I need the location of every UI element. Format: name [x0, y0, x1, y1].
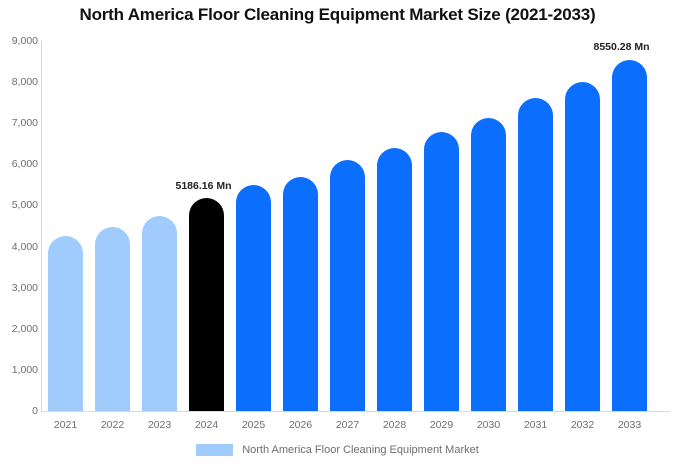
bar-value-label-2024: 5186.16 Mn — [176, 180, 232, 192]
chart-legend: North America Floor Cleaning Equipment M… — [0, 444, 675, 456]
y-axis-tick-label: 8,000 — [2, 76, 38, 88]
y-axis-tick-label: 4,000 — [2, 241, 38, 253]
x-axis: 2021202220232024202520262027202820292030… — [41, 419, 670, 437]
bar-value-label-2033: 8550.28 Mn — [594, 41, 650, 53]
legend-swatch-icon — [196, 444, 233, 456]
y-axis-tick-label: 6,000 — [2, 158, 38, 170]
bar-chart: North America Floor Cleaning Equipment M… — [0, 0, 675, 469]
x-axis-tick-label-2023: 2023 — [142, 419, 177, 431]
x-axis-tick-label-2028: 2028 — [377, 419, 412, 431]
x-axis-tick-label-2027: 2027 — [330, 419, 365, 431]
bar-2023[interactable] — [142, 216, 177, 411]
bar-2025[interactable] — [236, 185, 271, 411]
legend-item[interactable]: North America Floor Cleaning Equipment M… — [196, 444, 479, 456]
y-axis-tick-label: 2,000 — [2, 323, 38, 335]
y-axis-line — [41, 41, 42, 411]
x-axis-tick-label-2024: 2024 — [189, 419, 224, 431]
chart-title: North America Floor Cleaning Equipment M… — [0, 5, 675, 25]
bar-2021[interactable] — [48, 236, 83, 411]
x-axis-tick-label-2030: 2030 — [471, 419, 506, 431]
bar-2032[interactable] — [565, 82, 600, 411]
x-axis-tick-label-2026: 2026 — [283, 419, 318, 431]
y-axis: 9,0008,0007,0006,0005,0004,0003,0002,000… — [0, 38, 38, 413]
legend-label: North America Floor Cleaning Equipment M… — [242, 444, 479, 456]
x-axis-tick-label-2031: 2031 — [518, 419, 553, 431]
plot-area: 5186.16 Mn8550.28 Mn — [41, 38, 670, 413]
bar-2030[interactable] — [471, 118, 506, 411]
x-axis-tick-label-2033: 2033 — [612, 419, 647, 431]
x-axis-tick-label-2029: 2029 — [424, 419, 459, 431]
y-axis-tick-label: 7,000 — [2, 117, 38, 129]
bar-2031[interactable] — [518, 98, 553, 411]
y-axis-tick-label: 3,000 — [2, 282, 38, 294]
x-axis-tick-label-2025: 2025 — [236, 419, 271, 431]
bar-2026[interactable] — [283, 177, 318, 411]
y-axis-tick-label: 1,000 — [2, 364, 38, 376]
y-axis-tick-label: 0 — [2, 405, 38, 417]
x-axis-tick-label-2021: 2021 — [48, 419, 83, 431]
bar-2022[interactable] — [95, 227, 130, 411]
bar-2029[interactable] — [424, 132, 459, 411]
y-axis-tick-label: 9,000 — [2, 35, 38, 47]
y-axis-tick-label: 5,000 — [2, 199, 38, 211]
bar-2027[interactable] — [330, 160, 365, 411]
x-axis-line — [41, 411, 670, 412]
bar-2028[interactable] — [377, 148, 412, 411]
bar-2033[interactable] — [612, 60, 647, 412]
x-axis-tick-label-2032: 2032 — [565, 419, 600, 431]
bar-2024[interactable] — [189, 198, 224, 411]
x-axis-tick-label-2022: 2022 — [95, 419, 130, 431]
